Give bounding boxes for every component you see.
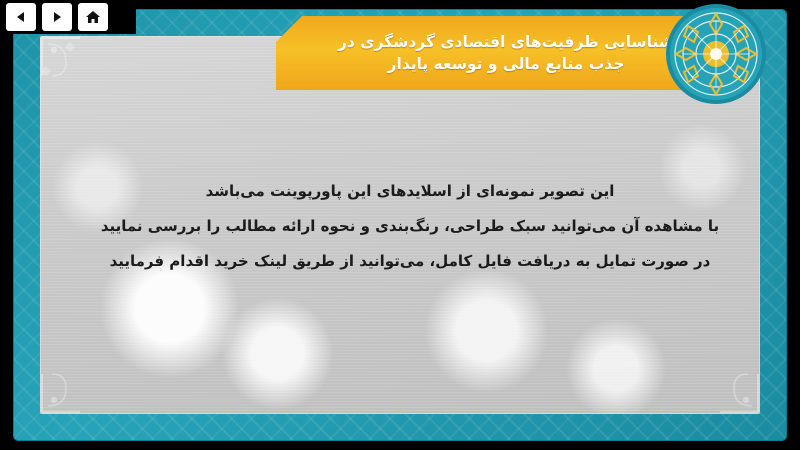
body-line-1: این تصویر نمونه‌ای از اسلایدهای این پاور…: [100, 176, 720, 207]
home-button[interactable]: [78, 3, 108, 31]
title-line-1: شناسایی ظرفیت‌های اقتصادی گردشگری در: [338, 31, 674, 53]
corner-ornament-icon: [690, 344, 760, 414]
navigation-bar: [0, 0, 136, 34]
body-line-3: در صورت تمایل به دریافت فایل کامل، می‌تو…: [100, 246, 720, 277]
title-line-2: جذب منابع مالی و توسعه پایدار: [388, 53, 625, 75]
slide-canvas: این تصویر نمونه‌ای از اسلایدهای این پاور…: [0, 0, 800, 450]
triangle-left-icon: [14, 10, 28, 24]
ornamental-medallion-icon: [664, 2, 768, 106]
corner-ornament-icon: [40, 36, 110, 106]
triangle-right-icon: [50, 10, 64, 24]
prev-slide-button[interactable]: [6, 3, 36, 31]
corner-ornament-icon: [40, 344, 110, 414]
body-line-2: با مشاهده آن می‌توانید سبک طراحی، رنگ‌بن…: [100, 211, 720, 242]
slide-body-text: این تصویر نمونه‌ای از اسلایدهای این پاور…: [100, 176, 720, 280]
page-title: شناسایی ظرفیت‌های اقتصادی گردشگری در جذب…: [276, 16, 728, 90]
content-panel: این تصویر نمونه‌ای از اسلایدهای این پاور…: [40, 36, 760, 414]
next-slide-button[interactable]: [42, 3, 72, 31]
slide-title-banner: شناسایی ظرفیت‌های اقتصادی گردشگری در جذب…: [276, 16, 728, 90]
home-icon: [85, 9, 101, 25]
